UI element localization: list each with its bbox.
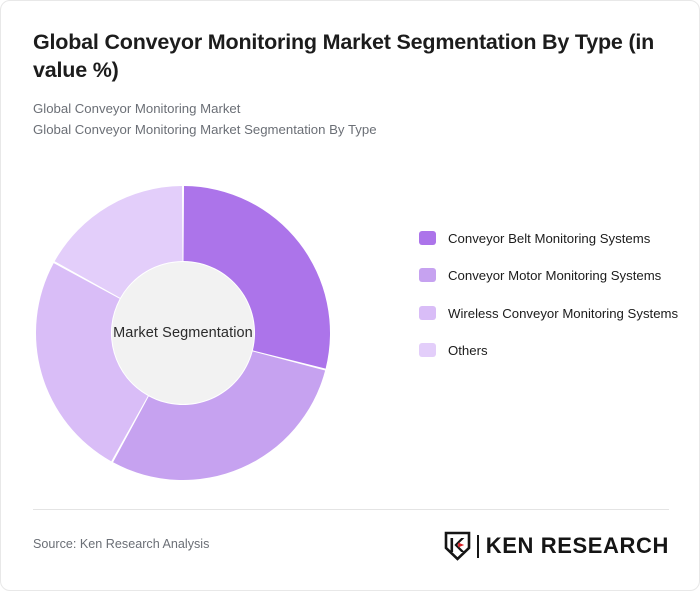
brand-logo: KEN RESEARCH — [444, 529, 669, 563]
legend-item[interactable]: Others — [419, 341, 681, 361]
legend-label: Conveyor Motor Monitoring Systems — [448, 266, 661, 286]
brand-name: KEN RESEARCH — [486, 535, 669, 557]
footer-divider — [33, 509, 669, 510]
chart-legend: Conveyor Belt Monitoring SystemsConveyor… — [419, 229, 681, 362]
legend-label: Conveyor Belt Monitoring Systems — [448, 229, 650, 249]
chart-footer: Source: Ken Research Analysis KEN RESEAR… — [33, 529, 669, 563]
chart-header: Global Conveyor Monitoring Market Segmen… — [33, 29, 673, 141]
legend-swatch-icon — [419, 268, 436, 282]
legend-item[interactable]: Wireless Conveyor Monitoring Systems — [419, 304, 681, 324]
legend-swatch-icon — [419, 343, 436, 357]
legend-label: Wireless Conveyor Monitoring Systems — [448, 304, 678, 324]
legend-label: Others — [448, 341, 488, 361]
chart-card: Global Conveyor Monitoring Market Segmen… — [0, 0, 700, 591]
donut-slice-group — [36, 186, 330, 480]
legend-swatch-icon — [419, 231, 436, 245]
legend-item[interactable]: Conveyor Belt Monitoring Systems — [419, 229, 681, 249]
donut-svg — [33, 183, 333, 483]
legend-swatch-icon — [419, 306, 436, 320]
donut-chart: Market Segmentation — [33, 183, 333, 483]
page-title: Global Conveyor Monitoring Market Segmen… — [33, 29, 673, 84]
donut-hole — [112, 262, 254, 404]
subtitle-market: Global Conveyor Monitoring Market — [33, 98, 673, 119]
chart-area: Market Segmentation Conveyor Belt Monito… — [1, 173, 700, 503]
source-text: Source: Ken Research Analysis — [33, 537, 209, 551]
brand-separator — [477, 535, 479, 558]
legend-item[interactable]: Conveyor Motor Monitoring Systems — [419, 266, 681, 286]
subtitle-block: Global Conveyor Monitoring Market Global… — [33, 98, 673, 141]
ken-shield-k-logo-icon — [444, 531, 471, 561]
subtitle-segmentation: Global Conveyor Monitoring Market Segmen… — [33, 119, 673, 140]
